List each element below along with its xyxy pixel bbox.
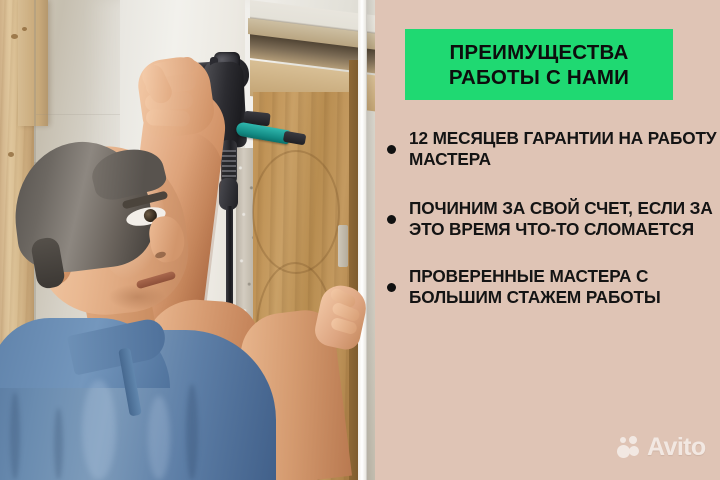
fabric-fold [186,384,198,480]
list-item: ПРОВЕРЕННЫЕ МАСТЕРА С БОЛЬШИМ СТАЖЕМ РАБ… [379,266,720,308]
fabric-fold [10,392,20,480]
list-item: ПОЧИНИМ ЗА СВОЙ СЧЕТ, ЕСЛИ ЗА ЭТО ВРЕМЯ … [379,198,720,240]
wood-knot-icon [8,152,14,157]
fabric-highlight [148,396,170,480]
fabric-fold [54,408,63,480]
photo-right-edge [366,0,375,480]
bullet-dot-icon [387,215,396,224]
fabric-highlight [82,380,116,480]
benefits-list: 12 МЕСЯЦЕВ ГАРАНТИИ НА РАБОТУ МАСТЕРА ПО… [379,128,720,332]
benefit-text: 12 МЕСЯЦЕВ ГАРАНТИИ НА РАБОТУ МАСТЕРА [409,128,720,170]
headline-line-2: РАБОТЫ С НАМИ [449,65,629,90]
headline-line-1: ПРЕИМУЩЕСТВА [449,40,628,65]
wood-knot-icon [22,27,27,31]
handyman-photo [0,0,375,480]
bullet-dot-icon [387,145,396,154]
wall-seam [36,114,122,115]
benefit-text: ПРОВЕРЕННЫЕ МАСТЕРА С БОЛЬШИМ СТАЖЕМ РАБ… [409,266,720,308]
door-grain-arc [252,150,340,274]
headline-text: ПРЕИМУЩЕСТВА РАБОТЫ С НАМИ [405,29,673,100]
avito-watermark: Avito [617,435,706,459]
avito-wordmark: Avito [647,435,706,459]
bullet-dot-icon [387,283,396,292]
list-item: 12 МЕСЯЦЕВ ГАРАНТИИ НА РАБОТУ МАСТЕРА [379,128,720,170]
door-hinge [338,225,348,267]
wood-knot-icon [11,34,18,39]
benefit-text: ПОЧИНИМ ЗА СВОЙ СЧЕТ, ЕСЛИ ЗА ЭТО ВРЕМЯ … [409,198,720,240]
content-panel: ПРЕИМУЩЕСТВА РАБОТЫ С НАМИ 12 МЕСЯЦЕВ ГА… [375,0,720,480]
chin-shadow [108,284,166,310]
pine-beam-upper [18,0,48,126]
clamp-spring [222,150,236,180]
advertisement-banner: ПРЕИМУЩЕСТВА РАБОТЫ С НАМИ 12 МЕСЯЦЕВ ГА… [0,0,720,480]
headline-banner: ПРЕИМУЩЕСТВА РАБОТЫ С НАМИ [405,29,673,100]
avito-dots-icon [617,435,641,459]
finger [146,109,191,127]
